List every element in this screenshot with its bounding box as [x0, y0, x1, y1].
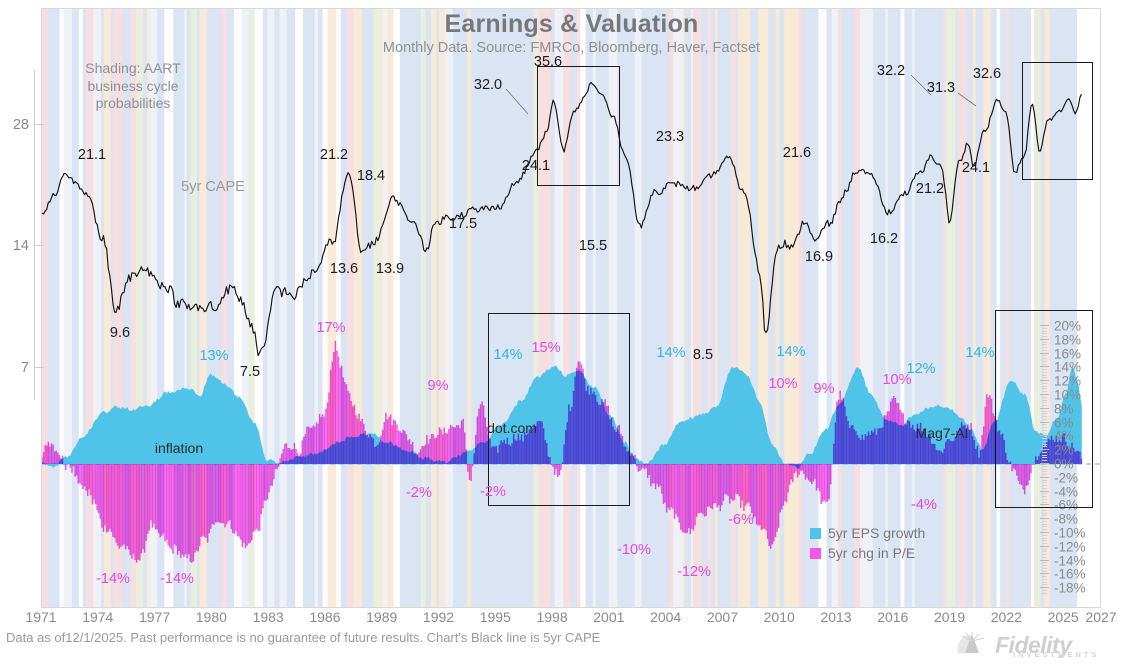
percent-axis-minor-tick: [1042, 538, 1047, 539]
cape-value-annotation: 35.6: [534, 54, 562, 70]
legend-item-eps[interactable]: 5yr EPS growth: [810, 525, 925, 541]
pe-change-annotation: 9%: [814, 381, 835, 397]
cape-value-annotation: 32.2: [877, 63, 905, 79]
highlight-box: [995, 310, 1093, 508]
percent-axis-tick: -18%: [1040, 587, 1049, 588]
cape-value-annotation: 24.1: [522, 158, 550, 174]
pe-change-annotation: 17%: [316, 320, 345, 336]
cape-value-annotation: 21.6: [783, 145, 811, 161]
x-axis-tick-label: 1989: [366, 609, 397, 625]
cape-value-annotation: 16.2: [870, 231, 898, 247]
y-axis-tick-label: 28: [13, 117, 29, 133]
x-axis-tick-label: 2022: [991, 609, 1022, 625]
percent-axis-tick-label: -8%: [1054, 512, 1078, 527]
y-axis-tick: 14: [35, 245, 44, 246]
percent-axis-minor-tick: [1042, 593, 1047, 594]
percent-axis-minor-tick: [1042, 549, 1047, 550]
percent-axis-tick: -16%: [1040, 573, 1049, 574]
percent-axis-minor-tick: [1042, 557, 1047, 558]
pe-change-annotation: -10%: [617, 542, 651, 558]
percent-axis-tick-label: -18%: [1054, 581, 1086, 596]
cape-value-annotation: 23.3: [656, 129, 684, 145]
percent-axis-minor-tick: [1042, 584, 1047, 585]
x-axis-tick-label: 2013: [820, 609, 851, 625]
y-axis-tick: 28: [35, 124, 44, 125]
inline-label-inflation: inflation: [155, 440, 203, 456]
percent-axis-minor-tick: [1042, 540, 1047, 541]
cape-value-annotation: 9.6: [110, 325, 130, 341]
cape-value-annotation: 21.1: [78, 147, 106, 163]
cape-value-annotation: 31.3: [927, 80, 955, 96]
legend-swatch-pe: [810, 548, 821, 559]
percent-axis-minor-tick: [1042, 515, 1047, 516]
x-axis-tick-label: 2027: [1085, 609, 1116, 625]
percent-axis-tick-label: -14%: [1054, 553, 1086, 568]
chart-subtitle: Monthly Data. Source: FMRCo, Bloomberg, …: [0, 40, 1143, 56]
brand-tagline: INVESTMENTS: [1013, 650, 1099, 659]
x-axis-tick-label: 1977: [139, 609, 170, 625]
eps-growth-annotation: 14%: [493, 347, 522, 363]
cape-value-annotation: 17.5: [449, 216, 477, 232]
percent-axis-minor-tick: [1042, 510, 1047, 511]
legend-item-pe[interactable]: 5yr chg in P/E: [810, 545, 925, 561]
percent-axis-minor-tick: [1042, 590, 1047, 591]
cape-value-annotation: 24.1: [962, 160, 990, 176]
percent-axis-tick: -8%: [1040, 518, 1049, 519]
pe-change-annotation: 9%: [428, 378, 449, 394]
y-axis-cape: 71428: [34, 70, 42, 400]
percent-axis-minor-tick: [1042, 521, 1047, 522]
pe-change-annotation: -12%: [677, 564, 711, 580]
x-axis-tick-label: 1998: [536, 609, 567, 625]
percent-axis-minor-tick: [1042, 513, 1047, 514]
eps-growth-annotation: 14%: [656, 345, 685, 361]
percent-axis-tick-label: -10%: [1054, 526, 1086, 541]
x-axis-tick-label: 1971: [25, 609, 56, 625]
inline-label-mag7ai: Mag7-AI: [916, 425, 969, 441]
percent-axis-minor-tick: [1042, 579, 1047, 580]
pe-change-annotation: 10%: [768, 376, 797, 392]
percent-axis-tick: -12%: [1040, 546, 1049, 547]
leader-line: [506, 89, 528, 114]
percent-axis-tick: -14%: [1040, 560, 1049, 561]
percent-axis-minor-tick: [1042, 551, 1047, 552]
pe-change-annotation: -2%: [480, 484, 506, 500]
cape-value-annotation: 8.5: [693, 347, 713, 363]
legend-label-pe: 5yr chg in P/E: [828, 545, 915, 561]
percent-axis-minor-tick: [1042, 576, 1047, 577]
x-axis-tick-label: 2004: [650, 609, 681, 625]
cape-value-annotation: 32.6: [973, 66, 1001, 82]
x-axis-tick-label: 1983: [253, 609, 284, 625]
y-axis-tick-label: 7: [21, 360, 29, 376]
fidelity-logo: Fidelity INVESTMENTS: [955, 630, 1072, 660]
x-axis-tick-label: 2019: [934, 609, 965, 625]
cape-value-annotation: 7.5: [240, 364, 260, 380]
x-axis-tick-label: 2001: [593, 609, 624, 625]
percent-axis-minor-tick: [1042, 535, 1047, 536]
pe-change-annotation: 10%: [882, 372, 911, 388]
pe-change-annotation: 15%: [531, 340, 560, 356]
cape-series-label: 5yr CAPE: [181, 179, 245, 195]
footer-disclaimer: Data as of12/1/2025. Past performance is…: [6, 630, 600, 645]
y-axis-tick-label: 14: [13, 238, 29, 254]
cape-value-annotation: 16.9: [805, 249, 833, 265]
x-axis-tick-label: 2007: [707, 609, 738, 625]
percent-axis-minor-tick: [1042, 554, 1047, 555]
eps-growth-annotation: 14%: [965, 345, 994, 361]
y-axis-tick: 7: [35, 367, 44, 368]
cape-value-annotation: 13.6: [330, 261, 358, 277]
x-axis-tick-label: 1974: [82, 609, 113, 625]
x-axis-tick-label: 2010: [764, 609, 795, 625]
x-axis-years: 1971197419771980198319861989199219951998…: [0, 609, 1143, 631]
pe-change-annotation: -6%: [728, 512, 754, 528]
percent-axis-minor-tick: [1042, 529, 1047, 530]
percent-axis-minor-tick: [1042, 562, 1047, 563]
cape-value-annotation: 21.2: [916, 181, 944, 197]
cape-value-annotation: 13.9: [376, 261, 404, 277]
pe-change-annotation: -14%: [96, 571, 130, 587]
x-axis-tick-label: 1986: [309, 609, 340, 625]
percent-axis-minor-tick: [1042, 568, 1047, 569]
cape-value-annotation: 15.5: [579, 238, 607, 254]
percent-axis-minor-tick: [1042, 526, 1047, 527]
percent-axis-tick-label: -16%: [1054, 567, 1086, 582]
leader-line: [958, 93, 976, 106]
x-axis-tick-label: 1992: [423, 609, 454, 625]
pe-change-annotation: -2%: [406, 485, 432, 501]
page-title: Earnings & Valuation: [0, 10, 1143, 39]
percent-axis-tick: -10%: [1040, 532, 1049, 533]
inline-label-dotcom: dot.com: [487, 420, 537, 436]
eps-growth-annotation: 14%: [776, 344, 805, 360]
pe-change-annotation: -4%: [911, 497, 937, 513]
fidelity-pyramid-icon: [955, 631, 989, 659]
percent-axis-minor-tick: [1042, 565, 1047, 566]
highlight-box: [1022, 62, 1094, 180]
percent-axis-minor-tick: [1042, 543, 1047, 544]
chart-legend: 5yr EPS growth 5yr chg in P/E: [810, 525, 925, 565]
x-axis-tick-label: 1995: [480, 609, 511, 625]
x-axis-tick-label: 1980: [196, 609, 227, 625]
percent-axis-tick-label: -12%: [1054, 539, 1086, 554]
percent-axis-minor-tick: [1042, 524, 1047, 525]
shading-note: Shading: AART business cycle probabiliti…: [73, 60, 193, 113]
x-axis-tick-label: 2025: [1048, 609, 1079, 625]
eps-growth-annotation: 13%: [199, 348, 228, 364]
pe-change-annotation: -14%: [160, 571, 194, 587]
cape-value-annotation: 32.0: [474, 77, 502, 93]
cape-value-annotation: 21.2: [320, 147, 348, 163]
legend-swatch-eps: [810, 528, 821, 539]
legend-label-eps: 5yr EPS growth: [828, 525, 925, 541]
cape-value-annotation: 18.4: [357, 168, 385, 184]
x-axis-tick-label: 2016: [877, 609, 908, 625]
percent-axis-minor-tick: [1042, 571, 1047, 572]
percent-axis-minor-tick: [1042, 582, 1047, 583]
